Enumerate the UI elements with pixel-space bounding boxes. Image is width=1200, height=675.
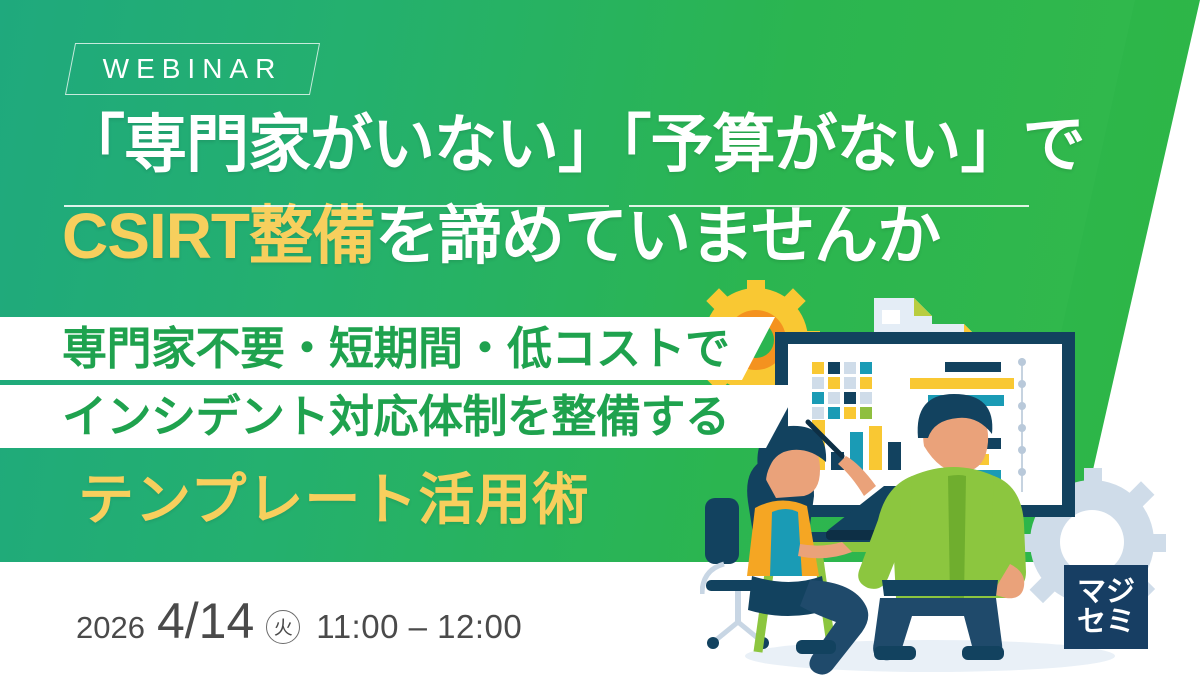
logo-line-1: マジ	[1077, 577, 1135, 607]
headline-rule-right	[629, 205, 1029, 207]
webinar-badge-label: WEBINAR	[71, 44, 314, 94]
schedule-month-day: 4/14	[157, 592, 254, 650]
logo-line-2: セミ	[1077, 607, 1135, 637]
headline-divider-rules	[64, 205, 1134, 208]
schedule-day-of-week: 火	[266, 610, 300, 644]
headline-accent-text: CSIRT整備	[62, 200, 375, 272]
subtitle-band-1: 専門家不要・短期間・低コストで	[0, 317, 775, 380]
headline-line-2-rest: を諦めていませんか	[375, 200, 940, 272]
majisemi-logo[interactable]: マジ セミ	[1064, 565, 1148, 649]
headline-line-1: 「専門家がいない」「予算がない」で	[62, 112, 1152, 179]
headline-line-2: CSIRT整備を諦めていませんか	[62, 203, 1152, 271]
headline-block: 「専門家がいない」「予算がない」で CSIRT整備を諦めていませんか	[62, 112, 1152, 271]
headline-rule-left	[64, 205, 609, 207]
subtitle-band-2-text: インシデント対応体制を整備する	[62, 385, 730, 448]
subtitle-band-2: インシデント対応体制を整備する	[0, 385, 800, 448]
webinar-banner: WEBINAR 「専門家がいない」「予算がない」で CSIRT整備を諦めていませ…	[0, 0, 1200, 675]
schedule-year: 2026	[76, 610, 145, 646]
subtitle-highlight: テンプレート活用術	[78, 455, 589, 536]
subtitle-band-1-text: 専門家不要・短期間・低コストで	[62, 317, 730, 380]
schedule-time: 11:00 – 12:00	[316, 608, 522, 646]
schedule-row: 2026 4/14 火 11:00 – 12:00	[76, 592, 522, 650]
webinar-badge: WEBINAR	[65, 43, 320, 95]
headline-rule-gap	[609, 205, 629, 208]
